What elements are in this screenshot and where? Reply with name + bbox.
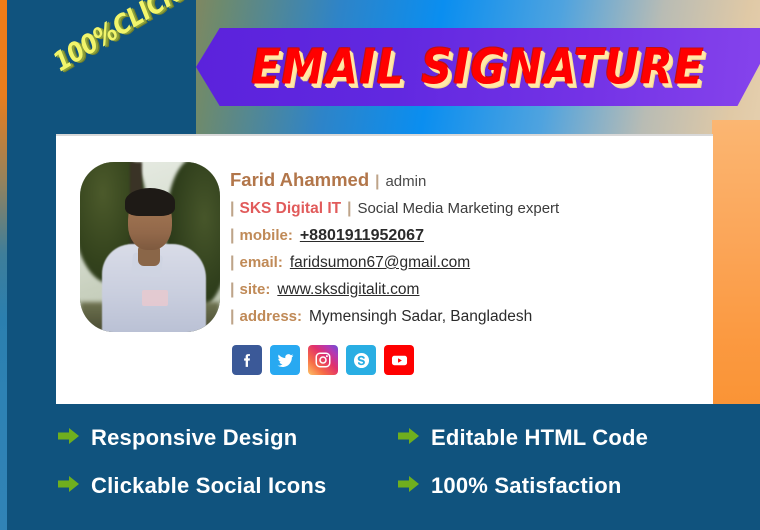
arrow-right-icon bbox=[58, 427, 80, 450]
feature-label: Clickable Social Icons bbox=[91, 473, 327, 499]
instagram-icon[interactable] bbox=[308, 345, 338, 375]
email-signature-card: Farid Ahammed | admin | SKS Digital IT |… bbox=[56, 136, 713, 404]
feature-item: Clickable Social Icons bbox=[58, 473, 398, 499]
signature-address-line: | address: Mymensingh Sadar, Bangladesh bbox=[230, 303, 713, 330]
bullet-pipe: | bbox=[230, 303, 234, 330]
feature-item: 100% Satisfaction bbox=[398, 473, 718, 499]
arrow-right-icon bbox=[398, 427, 420, 450]
signature-mobile-line: | mobile: +8801911952067 bbox=[230, 222, 713, 249]
skype-icon[interactable] bbox=[346, 345, 376, 375]
signature-name-line: Farid Ahammed | admin bbox=[230, 166, 713, 195]
mobile-label: mobile: bbox=[239, 222, 292, 249]
company-name[interactable]: SKS Digital IT bbox=[239, 195, 341, 222]
signature-details: Farid Ahammed | admin | SKS Digital IT |… bbox=[224, 136, 713, 375]
arrow-right-icon bbox=[398, 475, 420, 498]
bullet-pipe: | bbox=[230, 249, 234, 276]
avatar bbox=[80, 162, 220, 332]
twitter-icon[interactable] bbox=[270, 345, 300, 375]
address-value: Mymensingh Sadar, Bangladesh bbox=[309, 303, 532, 330]
address-label: address: bbox=[239, 303, 302, 330]
expertise-label: Social Media Marketing expert bbox=[357, 195, 559, 222]
feature-item: Responsive Design bbox=[58, 425, 398, 451]
signature-company-line: | SKS Digital IT | Social Media Marketin… bbox=[230, 195, 713, 222]
company-separator: | bbox=[347, 195, 351, 222]
avatar-container bbox=[56, 136, 224, 332]
name-separator: | bbox=[375, 168, 379, 195]
feature-label: 100% Satisfaction bbox=[431, 473, 621, 499]
background-orange-right-panel bbox=[712, 120, 760, 415]
youtube-icon[interactable] bbox=[384, 345, 414, 375]
promo-graphic: EMAIL SIGNATURE 100%CLICKOBLE Farid bbox=[0, 0, 760, 530]
signature-email-line: | email: faridsumon67@gmail.com bbox=[230, 249, 713, 276]
feature-label: Editable HTML Code bbox=[431, 425, 648, 451]
feature-item: Editable HTML Code bbox=[398, 425, 718, 451]
site-value[interactable]: www.sksdigitalit.com bbox=[277, 276, 419, 303]
title-banner: EMAIL SIGNATURE bbox=[196, 28, 760, 106]
email-label: email: bbox=[239, 249, 282, 276]
feature-label: Responsive Design bbox=[91, 425, 297, 451]
email-value[interactable]: faridsumon67@gmail.com bbox=[290, 249, 470, 276]
page-title: EMAIL SIGNATURE bbox=[188, 21, 760, 113]
bullet-pipe: | bbox=[230, 222, 234, 249]
mobile-value[interactable]: +8801911952067 bbox=[300, 222, 424, 249]
site-label: site: bbox=[239, 276, 270, 303]
signature-site-line: | site: www.sksdigitalit.com bbox=[230, 276, 713, 303]
arrow-right-icon bbox=[58, 475, 80, 498]
bullet-pipe: | bbox=[230, 276, 234, 303]
contact-role: admin bbox=[385, 168, 426, 195]
facebook-icon[interactable] bbox=[232, 345, 262, 375]
bullet-pipe: | bbox=[230, 195, 234, 222]
social-icons-row bbox=[232, 345, 713, 375]
feature-list: Responsive Design Editable HTML Code Cli… bbox=[0, 404, 760, 530]
contact-name: Farid Ahammed bbox=[230, 166, 369, 193]
